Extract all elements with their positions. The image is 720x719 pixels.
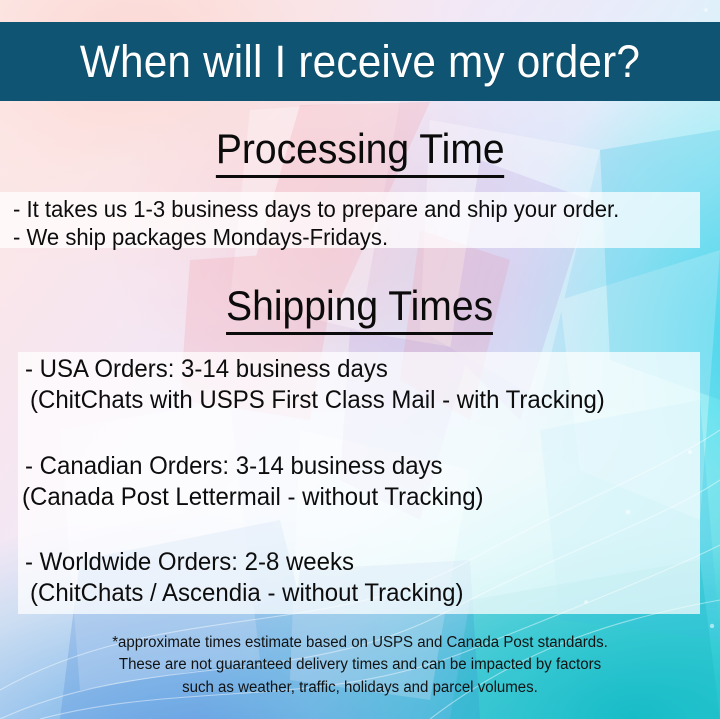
shipping-canada-title: - Canadian Orders: 3-14 business days — [25, 452, 443, 481]
shipping-usa-title: - USA Orders: 3-14 business days — [25, 355, 388, 384]
shipping-worldwide-title: - Worldwide Orders: 2-8 weeks — [25, 548, 354, 577]
page-title: When will I receive my order? — [80, 39, 640, 84]
section-heading-shipping-times: Shipping Times — [226, 285, 493, 335]
shipping-usa-detail: (ChitChats with USPS First Class Mail - … — [30, 386, 605, 415]
section-heading-processing-time: Processing Time — [216, 128, 505, 178]
shipping-canada-detail: (Canada Post Lettermail - without Tracki… — [22, 483, 484, 512]
processing-time-line-1: - It takes us 1-3 business days to prepa… — [13, 196, 619, 222]
footnote-line-2: These are not guaranteed delivery times … — [11, 654, 709, 676]
shipping-worldwide-detail: (ChitChats / Ascendia - without Tracking… — [30, 579, 464, 608]
footnote-line-3: such as weather, traffic, holidays and p… — [11, 677, 709, 699]
header-bar: When will I receive my order? — [0, 22, 720, 101]
footnote: *approximate times estimate based on USP… — [0, 632, 720, 699]
processing-time-line-2: - We ship packages Mondays-Fridays. — [13, 224, 388, 250]
faq-shipping-poster: When will I receive my order? Processing… — [0, 0, 720, 719]
footnote-line-1: *approximate times estimate based on USP… — [11, 632, 709, 654]
